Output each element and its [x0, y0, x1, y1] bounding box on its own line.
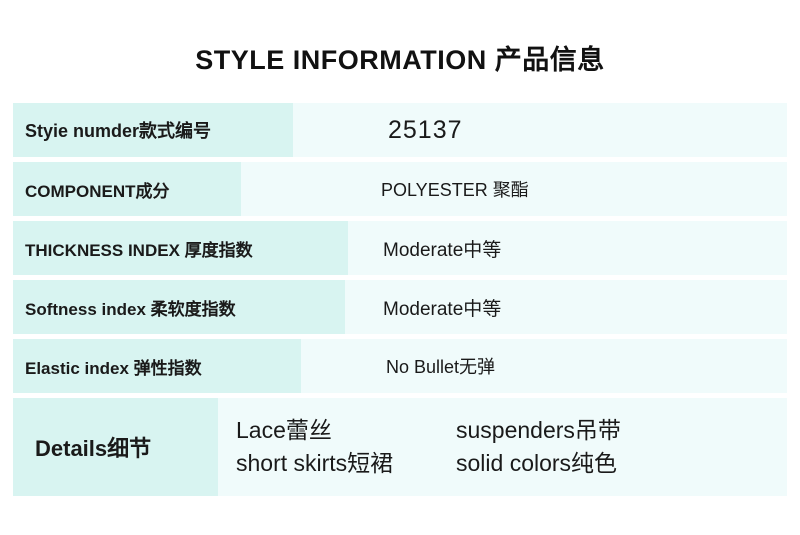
row-value-elastic-index: No Bullet无弹: [301, 339, 495, 393]
row-value-component: POLYESTER 聚酯: [241, 162, 529, 216]
details-line: Lace蕾丝 suspenders吊带: [236, 414, 787, 447]
details-item-short-skirts: short skirts短裙: [236, 447, 456, 480]
table-row: COMPONENT成分 POLYESTER 聚酯: [13, 162, 787, 216]
details-line: short skirts短裙 solid colors纯色: [236, 447, 787, 480]
table-row-details: Details细节 Lace蕾丝 suspenders吊带 short skir…: [13, 398, 787, 496]
table-row: Styie numder款式编号 25137: [13, 103, 787, 157]
row-value-softness-index: Moderate中等: [345, 280, 501, 334]
row-label-softness-index: Softness index 柔软度指数: [13, 280, 345, 334]
details-item-solid-colors: solid colors纯色: [456, 447, 617, 480]
table-row: Elastic index 弹性指数 No Bullet无弹: [13, 339, 787, 393]
row-label-elastic-index: Elastic index 弹性指数: [13, 339, 301, 393]
page-title: STYLE INFORMATION 产品信息: [0, 38, 800, 77]
row-label-thickness-index: THICKNESS INDEX 厚度指数: [13, 221, 348, 275]
row-label-style-number: Styie numder款式编号: [13, 103, 293, 157]
row-value-thickness-index: Moderate中等: [348, 221, 501, 275]
style-information-page: STYLE INFORMATION 产品信息 Styie numder款式编号 …: [0, 0, 800, 535]
row-label-details: Details细节: [13, 398, 218, 496]
table-row: Softness index 柔软度指数 Moderate中等: [13, 280, 787, 334]
row-value-style-number: 25137: [293, 103, 463, 157]
details-item-lace: Lace蕾丝: [236, 414, 456, 447]
row-value-details: Lace蕾丝 suspenders吊带 short skirts短裙 solid…: [218, 398, 787, 496]
details-item-suspenders: suspenders吊带: [456, 414, 621, 447]
style-information-table: Styie numder款式编号 25137 COMPONENT成分 POLYE…: [13, 103, 787, 501]
row-label-component: COMPONENT成分: [13, 162, 241, 216]
table-row: THICKNESS INDEX 厚度指数 Moderate中等: [13, 221, 787, 275]
